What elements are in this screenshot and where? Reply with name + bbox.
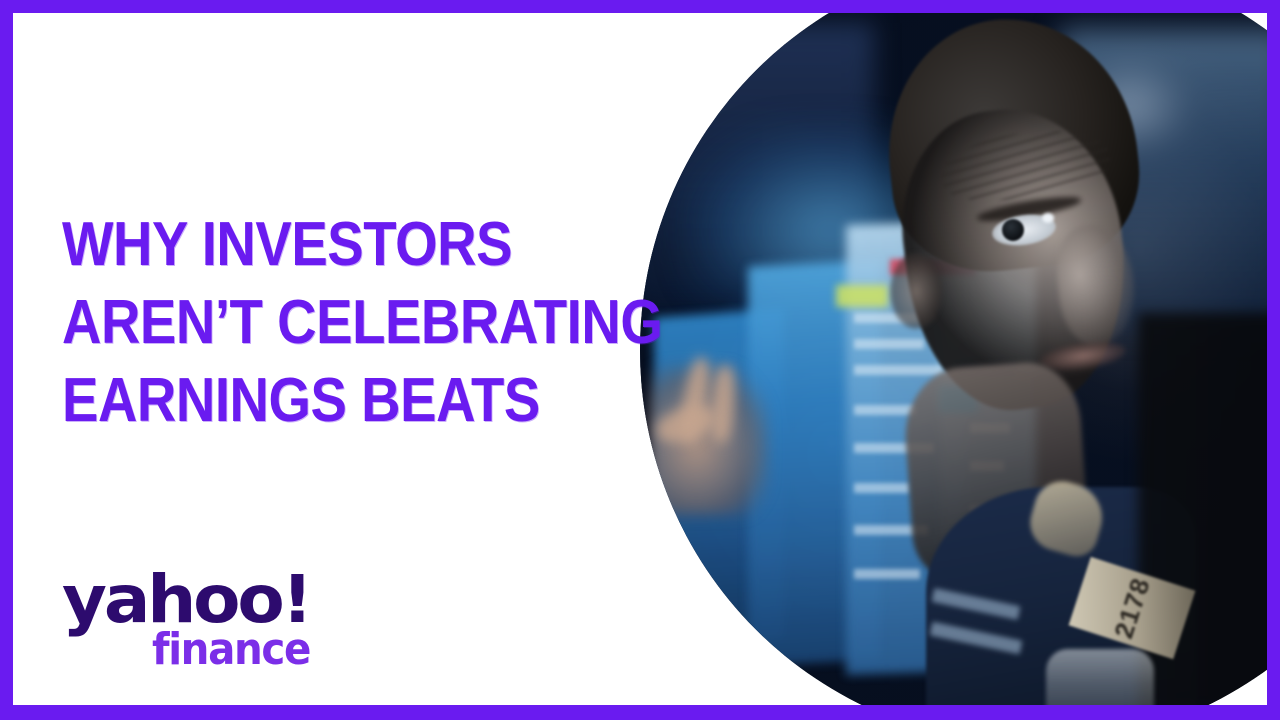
monitor-highlight-row: [836, 285, 888, 307]
monitor-data-row: [854, 339, 924, 349]
trader-photo-mask: 2178: [640, 13, 1280, 705]
eye-catchlight: [1042, 213, 1054, 223]
frame-border-right: [1267, 0, 1280, 720]
finance-wordmark-text: finance: [152, 624, 310, 675]
yahoo-finance-logo: yahoo!finance: [62, 560, 332, 680]
ear: [890, 253, 942, 329]
headline-line-3: EARNINGS BEATS: [62, 362, 555, 440]
monitor-data-row: [854, 569, 920, 579]
headline-line-1: WHY INVESTORS: [62, 206, 555, 284]
monitor-data-row: [854, 405, 916, 415]
yahoo-finance-logo-svg: yahoo!finance: [62, 560, 332, 680]
frame-border-top: [0, 0, 1280, 13]
monitor-data-row: [854, 483, 910, 493]
trader-photo: 2178: [640, 13, 1280, 705]
pupil: [1002, 219, 1024, 241]
water-bottle: [1046, 649, 1154, 705]
video-thumbnail: 2178 WHY INVESTORS AREN’T CELEBRATING EA…: [0, 0, 1280, 720]
headline: WHY INVESTORS AREN’T CELEBRATING EARNING…: [62, 206, 622, 440]
frame-border-left: [0, 0, 13, 720]
frame-border-bottom: [0, 705, 1280, 720]
monitor-data-row: [854, 365, 942, 375]
headline-line-2: AREN’T CELEBRATING: [62, 284, 555, 362]
